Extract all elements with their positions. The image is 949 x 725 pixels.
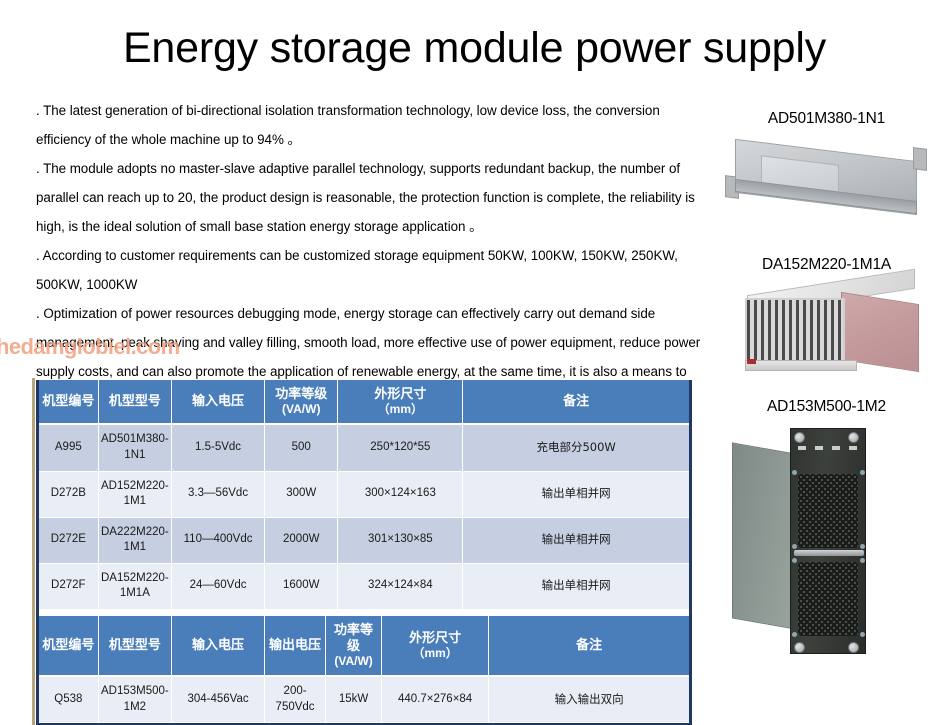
cell-remarks: 充电部分500W bbox=[463, 424, 689, 471]
cell-remarks: 输出单相并网 bbox=[463, 517, 689, 563]
table-row: D272F DA152M220-1M1A 24—60Vdc 1600W 324×… bbox=[39, 563, 689, 609]
column-header-input-voltage: 输入电压 bbox=[172, 616, 265, 677]
status-led bbox=[849, 446, 857, 450]
panel-fastener bbox=[860, 544, 865, 549]
cell-model-number: AD501M380-1N1 bbox=[98, 424, 171, 471]
cell-dimensions: 250*120*55 bbox=[338, 424, 463, 471]
red-indicator-tab bbox=[747, 359, 756, 364]
cell-input-voltage: 304-456Vac bbox=[172, 676, 265, 723]
description-block: . The latest generation of bi-directiona… bbox=[36, 96, 704, 415]
column-header-label: 输入电压 bbox=[192, 394, 244, 409]
cell-model-code: D272F bbox=[39, 563, 98, 609]
panel-fastener bbox=[792, 544, 797, 549]
cell-input-voltage: 24—60Vdc bbox=[172, 563, 265, 609]
cell-dimensions: 300×124×163 bbox=[338, 471, 463, 517]
description-paragraph-3: . According to customer requirements can… bbox=[36, 241, 704, 299]
product-photo-ad153m500-1m2 bbox=[732, 422, 922, 662]
product-photo-da152m220-1m1a bbox=[723, 280, 931, 372]
table-row: A995 AD501M380-1N1 1.5-5Vdc 500 250*120*… bbox=[39, 424, 689, 471]
cell-dimensions: 324×124×84 bbox=[338, 563, 463, 609]
column-header-label: 机型型号 bbox=[109, 394, 161, 409]
product-card-ad153m500-1m2: AD153M500-1M2 bbox=[704, 398, 949, 662]
column-header-label: 功率等级 bbox=[334, 623, 373, 654]
panel-fastener bbox=[860, 558, 865, 563]
product-photo-ad501m380-1n1 bbox=[723, 134, 931, 228]
product-card-da152m220-1m1a: DA152M220-1M1A bbox=[704, 256, 949, 372]
cell-input-voltage: 3.3—56Vdc bbox=[172, 471, 265, 517]
panel-fastener bbox=[792, 470, 797, 475]
column-header-remarks: 备注 bbox=[489, 616, 689, 677]
thumb-screw-bottom-right bbox=[848, 642, 859, 653]
column-header-label: 输入电压 bbox=[192, 638, 244, 653]
column-header-dimensions: 外形尺寸 （mm） bbox=[382, 616, 489, 677]
status-led-row bbox=[798, 446, 858, 454]
column-header-model-code: 机型编号 bbox=[39, 616, 98, 677]
product-label: AD501M380-1N1 bbox=[704, 110, 949, 128]
module-handle bbox=[794, 550, 864, 556]
product-gallery: AD501M380-1N1 DA152M220-1M1A AD153M500-1… bbox=[704, 110, 949, 662]
cell-model-code: Q538 bbox=[39, 676, 98, 723]
cell-remarks: 输出单相并网 bbox=[463, 471, 689, 517]
cell-power-rating: 2000W bbox=[265, 517, 338, 563]
page-title: Energy storage module power supply bbox=[0, 26, 949, 71]
cell-remarks: 输出单相并网 bbox=[463, 563, 689, 609]
column-header-model-code: 机型编号 bbox=[39, 380, 98, 424]
column-header-power-rating: 功率等级 (VA/W) bbox=[326, 616, 382, 677]
column-header-unit: (VA/W) bbox=[267, 402, 335, 416]
thumb-screw-top-left bbox=[794, 432, 805, 443]
status-led bbox=[798, 446, 806, 450]
column-header-input-voltage: 输入电压 bbox=[172, 380, 265, 424]
specification-tables: 机型编号 机型型号 输入电压 功率等级 (VA/W) 外形尺寸 （mm） 备注 bbox=[36, 380, 692, 725]
module-base-panel bbox=[745, 360, 857, 371]
thumb-screw-bottom-left bbox=[794, 642, 805, 653]
table-row: D272B AD152M220-1M1 3.3—56Vdc 300W 300×1… bbox=[39, 471, 689, 517]
module-side-panel bbox=[732, 442, 796, 629]
column-header-label: 备注 bbox=[576, 638, 602, 653]
column-header-label: 机型编号 bbox=[42, 638, 94, 653]
fan-grille-lower bbox=[798, 562, 858, 636]
ventilation-grille bbox=[745, 298, 845, 364]
cell-model-code: D272E bbox=[39, 517, 98, 563]
spec-table-two: 机型编号 机型型号 输入电压 输出电压 功率等级 (VA/W) 外形尺寸 （mm bbox=[39, 616, 689, 724]
table-row: D272E DA222M220-1M1 110—400Vdc 2000W 301… bbox=[39, 517, 689, 563]
cell-remarks: 输入输出双向 bbox=[489, 676, 689, 723]
column-header-power-rating: 功率等级 (VA/W) bbox=[265, 380, 338, 424]
fan-grille-upper bbox=[798, 474, 858, 548]
cell-power-rating: 15kW bbox=[326, 676, 382, 723]
description-paragraph-2: . The module adopts no master-slave adap… bbox=[36, 154, 704, 241]
cell-input-voltage: 110—400Vdc bbox=[172, 517, 265, 563]
table-one-header-row: 机型编号 机型型号 输入电压 功率等级 (VA/W) 外形尺寸 （mm） 备注 bbox=[39, 380, 689, 424]
column-header-label: 外形尺寸 bbox=[374, 387, 426, 402]
cell-model-number: AD152M220-1M1 bbox=[98, 471, 171, 517]
cell-model-number: AD153M500-1M2 bbox=[98, 676, 171, 723]
column-header-label: 输出电压 bbox=[269, 638, 321, 653]
table-two-header-row: 机型编号 机型型号 输入电压 输出电压 功率等级 (VA/W) 外形尺寸 （mm bbox=[39, 616, 689, 677]
column-header-unit: (VA/W) bbox=[328, 654, 379, 668]
column-header-remarks: 备注 bbox=[463, 380, 689, 424]
cell-model-number: DA222M220-1M1 bbox=[98, 517, 171, 563]
cell-power-rating: 1600W bbox=[265, 563, 338, 609]
column-header-label: 机型编号 bbox=[42, 394, 94, 409]
column-header-model-number: 机型型号 bbox=[98, 616, 171, 677]
cell-model-code: A995 bbox=[39, 424, 98, 471]
cell-power-rating: 500 bbox=[265, 424, 338, 471]
panel-fastener bbox=[792, 558, 797, 563]
panel-fastener bbox=[860, 632, 865, 637]
status-led bbox=[815, 446, 823, 450]
cell-output-voltage: 200-750Vdc bbox=[265, 676, 326, 723]
column-header-model-number: 机型型号 bbox=[98, 380, 171, 424]
column-header-label: 机型型号 bbox=[109, 638, 161, 653]
panel-fastener bbox=[860, 470, 865, 475]
cell-model-number: DA152M220-1M1A bbox=[98, 563, 171, 609]
mounting-ear-right bbox=[913, 147, 927, 171]
cell-input-voltage: 1.5-5Vdc bbox=[172, 424, 265, 471]
column-header-output-voltage: 输出电压 bbox=[265, 616, 326, 677]
column-header-label: 功率等级 bbox=[275, 387, 327, 402]
panel-fastener bbox=[792, 632, 797, 637]
thumb-screw-top-right bbox=[848, 432, 859, 443]
spec-table-one: 机型编号 机型型号 输入电压 功率等级 (VA/W) 外形尺寸 （mm） 备注 bbox=[39, 380, 689, 610]
status-led bbox=[832, 446, 840, 450]
column-header-label: 外形尺寸 bbox=[409, 631, 461, 646]
cell-dimensions: 440.7×276×84 bbox=[382, 676, 489, 723]
table-row: Q538 AD153M500-1M2 304-456Vac 200-750Vdc… bbox=[39, 676, 689, 723]
cell-dimensions: 301×130×85 bbox=[338, 517, 463, 563]
product-card-ad501m380-1n1: AD501M380-1N1 bbox=[704, 110, 949, 228]
cell-model-code: D272B bbox=[39, 471, 98, 517]
product-label: AD153M500-1M2 bbox=[704, 398, 949, 416]
column-header-unit: （mm） bbox=[384, 646, 486, 660]
column-header-dimensions: 外形尺寸 （mm） bbox=[338, 380, 463, 424]
column-header-unit: （mm） bbox=[340, 402, 460, 416]
cell-power-rating: 300W bbox=[265, 471, 338, 517]
description-paragraph-1: . The latest generation of bi-directiona… bbox=[36, 96, 704, 154]
column-header-label: 备注 bbox=[563, 394, 589, 409]
